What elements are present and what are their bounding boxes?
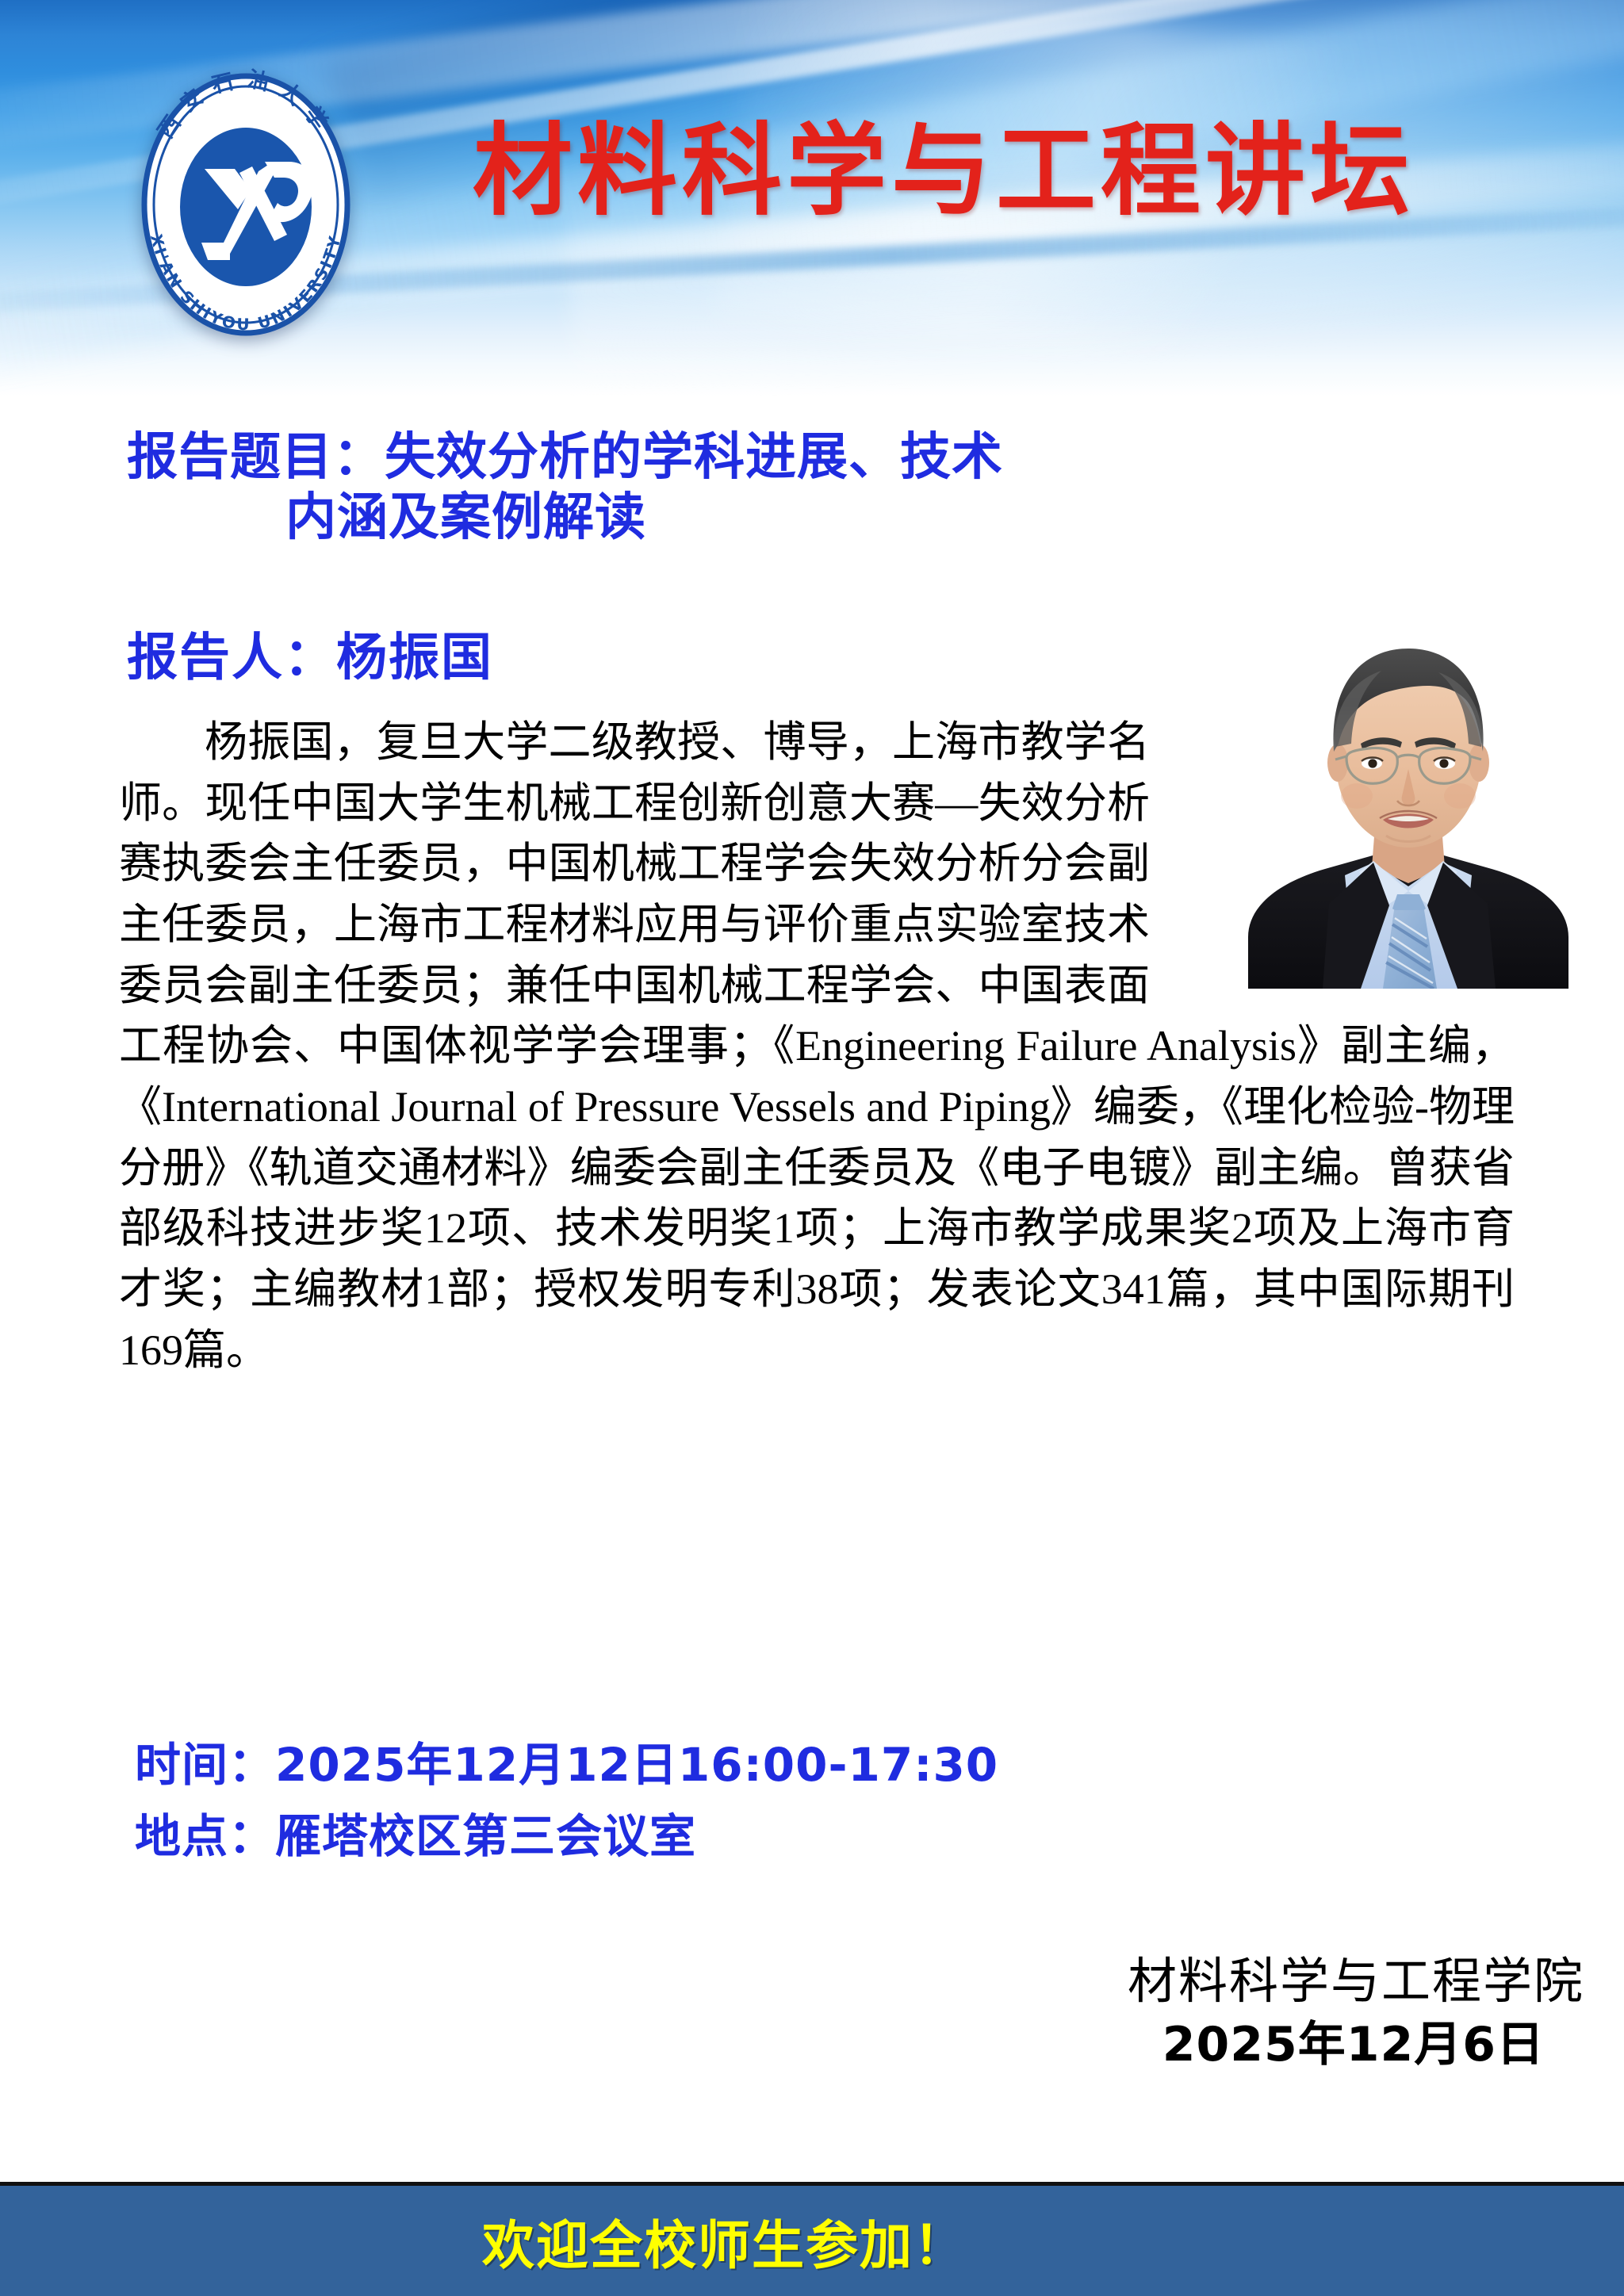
talk-title-line1: 报告题目：失效分析的学科进展、技术: [127, 428, 1003, 487]
event-meta: 时间：2025年12月12日16:00-17:30 地点：雁塔校区第三会议室: [135, 1730, 998, 1873]
signature-block: 材料科学与工程学院 2025年12月6日: [0, 1952, 1624, 2076]
poster-root: 1951 西安石油大学 XI'AN SHIYOU UNIVERSITY 材料科学…: [0, 0, 1624, 2296]
speaker-bio: 杨振国，复旦大学二级教授、博导，上海市教学名师。现任中国大学生机械工程创新创意大…: [119, 712, 1515, 1380]
svg-text:1951: 1951: [225, 286, 267, 301]
speaker-line: 报告人：杨振国: [127, 617, 493, 690]
forum-title: 材料科学与工程讲坛: [473, 111, 1599, 230]
event-place: 地点：雁塔校区第三会议室: [135, 1801, 998, 1873]
signature-date: 2025年12月6日: [0, 2014, 1584, 2076]
talk-title: 报告题目：失效分析的学科进展、技术 内涵及案例解读: [127, 428, 1427, 548]
footer-banner: 欢迎全校师生参加！: [0, 2186, 1624, 2296]
talk-title-line2: 内涵及案例解读: [127, 488, 1427, 549]
university-logo-icon: 1951 西安石油大学 XI'AN SHIYOU UNIVERSITY: [119, 46, 373, 363]
welcome-text: 欢迎全校师生参加！: [482, 2203, 967, 2279]
poster-body: 报告题目：失效分析的学科进展、技术 内涵及案例解读 报告人：杨振国: [0, 396, 1624, 2175]
bio-photo-wrap: [1150, 712, 1515, 1005]
header-banner: 1951 西安石油大学 XI'AN SHIYOU UNIVERSITY 材料科学…: [0, 0, 1624, 396]
event-time: 时间：2025年12月12日16:00-17:30: [135, 1730, 998, 1801]
organizer-name: 材料科学与工程学院: [0, 1952, 1584, 2014]
